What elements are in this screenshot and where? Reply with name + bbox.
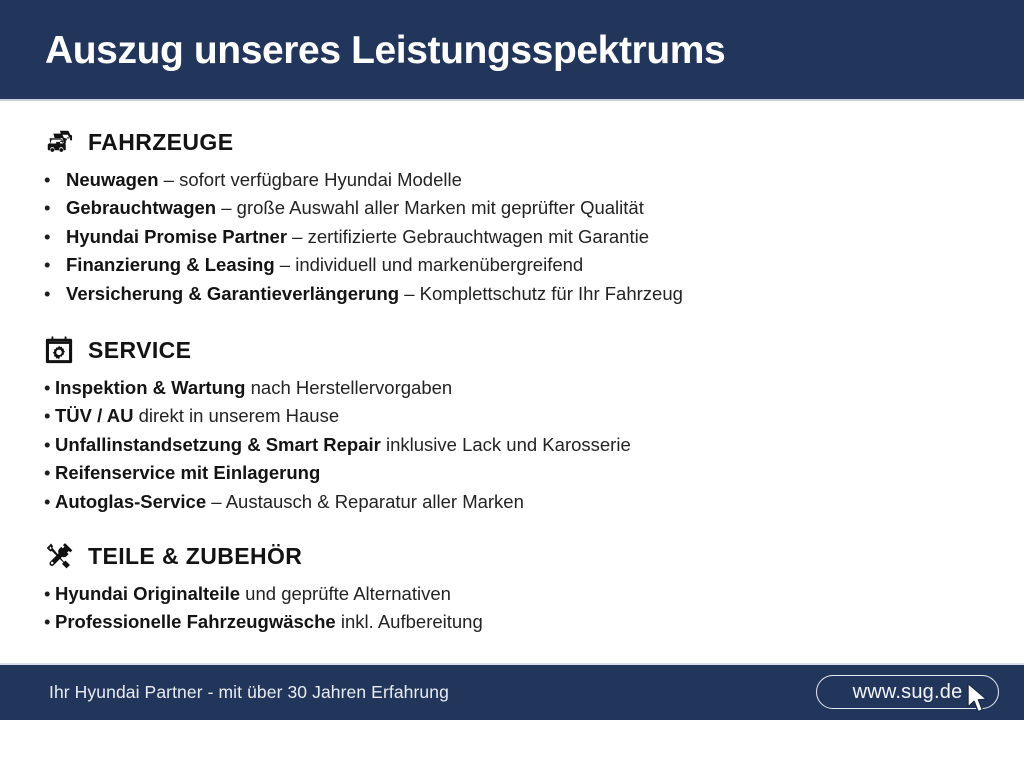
bullet-marker: • — [44, 223, 66, 251]
item-lead: Neuwagen — [66, 169, 159, 190]
item-rest: – individuell und markenübergreifend — [275, 254, 584, 275]
tools-icon — [44, 541, 74, 571]
list-service: •Inspektion & Wartung nach Herstellervor… — [44, 374, 631, 516]
section-service: SERVICE •Inspektion & Wartung nach Herst… — [44, 335, 631, 516]
section-fahrzeuge: FAHRZEUGE •Neuwagen – sofort verfügbare … — [44, 127, 683, 308]
list-item: •Unfallinstandsetzung & Smart Repair ink… — [44, 431, 631, 459]
item-rest: direkt in unserem Hause — [133, 405, 339, 426]
bullet-marker: • — [44, 194, 66, 222]
list-teile: •Hyundai Originalteile und geprüfte Alte… — [44, 580, 483, 637]
list-fahrzeuge: •Neuwagen – sofort verfügbare Hyundai Mo… — [44, 166, 683, 308]
list-item: •Autoglas-Service – Austausch & Reparatu… — [44, 488, 631, 516]
section-title-service: SERVICE — [88, 337, 191, 363]
content-area: FAHRZEUGE •Neuwagen – sofort verfügbare … — [0, 101, 1024, 665]
section-title-teile: TEILE & ZUBEHÖR — [88, 543, 302, 569]
website-url-button[interactable]: www.sug.de — [816, 675, 999, 709]
list-item: •Versicherung & Garantieverlängerung – K… — [44, 280, 683, 308]
section-header-fahrzeuge: FAHRZEUGE — [44, 127, 683, 157]
list-item: •Professionelle Fahrzeugwäsche inkl. Auf… — [44, 608, 483, 636]
item-lead: Finanzierung & Leasing — [66, 254, 275, 275]
section-teile-zubehoer: TEILE & ZUBEHÖR •Hyundai Originalteile u… — [44, 541, 483, 637]
cars-icon — [44, 127, 74, 157]
bullet-marker: • — [44, 280, 66, 308]
item-lead: Hyundai Promise Partner — [66, 226, 287, 247]
list-item: •Gebrauchtwagen – große Auswahl aller Ma… — [44, 194, 683, 222]
item-lead: Gebrauchtwagen — [66, 197, 216, 218]
item-rest: inklusive Lack und Karosserie — [381, 434, 631, 455]
bullet-marker: • — [44, 374, 55, 402]
item-lead: Hyundai Originalteile — [55, 583, 240, 604]
item-lead: Inspektion & Wartung — [55, 377, 245, 398]
section-title-fahrzeuge: FAHRZEUGE — [88, 129, 233, 155]
item-lead: Unfallinstandsetzung & Smart Repair — [55, 434, 381, 455]
bullet-marker: • — [44, 608, 55, 636]
item-lead: Versicherung & Garantieverlängerung — [66, 283, 399, 304]
item-lead: Autoglas-Service — [55, 491, 206, 512]
bullet-marker: • — [44, 166, 66, 194]
item-rest: – große Auswahl aller Marken mit geprüft… — [216, 197, 644, 218]
item-rest: – zertifizierte Gebrauchtwagen mit Garan… — [287, 226, 649, 247]
website-url-label: www.sug.de — [853, 681, 963, 703]
list-item: •Neuwagen – sofort verfügbare Hyundai Mo… — [44, 166, 683, 194]
item-rest: – sofort verfügbare Hyundai Modelle — [159, 169, 462, 190]
list-item: •Hyundai Promise Partner – zertifizierte… — [44, 223, 683, 251]
item-rest: – Komplettschutz für Ihr Fahrzeug — [399, 283, 683, 304]
bullet-marker: • — [44, 580, 55, 608]
list-item: •Inspektion & Wartung nach Herstellervor… — [44, 374, 631, 402]
bottom-margin — [0, 720, 1024, 768]
footer-tagline: Ihr Hyundai Partner - mit über 30 Jahren… — [49, 681, 449, 703]
bullet-marker: • — [44, 431, 55, 459]
section-header-service: SERVICE — [44, 335, 631, 365]
item-lead: Reifenservice mit Einlagerung — [55, 462, 320, 483]
item-rest: und geprüfte Alternativen — [240, 583, 451, 604]
bullet-marker: • — [44, 402, 55, 430]
calendar-gear-icon — [44, 335, 74, 365]
page-title: Auszug unseres Leistungsspektrums — [45, 29, 725, 73]
list-item: •Finanzierung & Leasing – individuell un… — [44, 251, 683, 279]
bullet-marker: • — [44, 459, 55, 487]
item-lead: TÜV / AU — [55, 405, 133, 426]
item-lead: Professionelle Fahrzeugwäsche — [55, 611, 336, 632]
slide-canvas: Auszug unseres Leistungsspektrums — [0, 0, 1024, 768]
item-rest: – Austausch & Reparatur aller Marken — [206, 491, 524, 512]
header-bar: Auszug unseres Leistungsspektrums — [0, 0, 1024, 99]
list-item: •Reifenservice mit Einlagerung — [44, 459, 631, 487]
footer-bar: Ihr Hyundai Partner - mit über 30 Jahren… — [0, 665, 1024, 720]
list-item: •TÜV / AU direkt in unserem Hause — [44, 402, 631, 430]
bullet-marker: • — [44, 488, 55, 516]
bullet-marker: • — [44, 251, 66, 279]
item-rest: inkl. Aufbereitung — [336, 611, 483, 632]
section-header-teile: TEILE & ZUBEHÖR — [44, 541, 483, 571]
list-item: •Hyundai Originalteile und geprüfte Alte… — [44, 580, 483, 608]
item-rest: nach Herstellervorgaben — [245, 377, 452, 398]
